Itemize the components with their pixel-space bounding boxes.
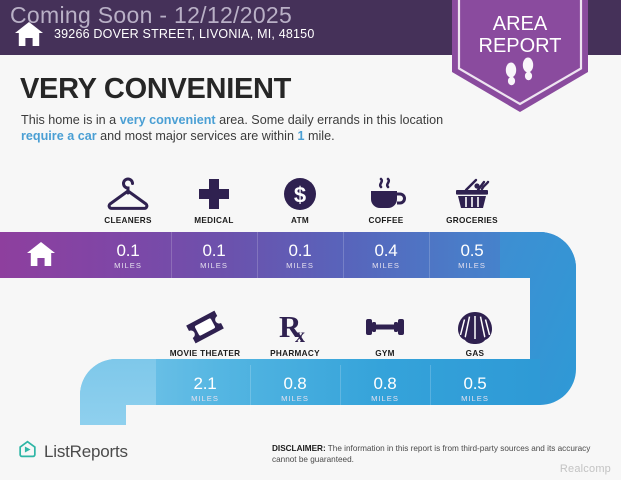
amenity-label: GROCERIES (446, 216, 498, 225)
badge-line2: REPORT (479, 35, 562, 57)
dumbbell-icon (365, 308, 405, 344)
amenity-label: GAS (466, 349, 485, 358)
distance-cell: 2.1 MILES (160, 365, 250, 411)
desc-text-2: area. Some daily errands in this locatio… (216, 113, 444, 127)
desc-highlight-3: 1 (297, 129, 304, 143)
header-address-block: 39266 DOVER STREET, LIVONIA, MI, 48150 (14, 20, 315, 48)
distance-cell: 0.5 MILES (429, 232, 515, 278)
disclaimer: DISCLAIMER: The information in this repo… (272, 444, 592, 465)
amenity-label: PHARMACY (270, 349, 320, 358)
distance-value: 0.5 (463, 374, 486, 393)
desc-highlight-1: very convenient (120, 113, 216, 127)
distance-unit: MILES (371, 394, 399, 403)
distance-cell: 0.4 MILES (343, 232, 429, 278)
description-paragraph: This home is in a very convenient area. … (21, 113, 453, 144)
distance-unit: MILES (200, 261, 228, 270)
distance-values-row-2: 2.1 MILES 0.8 MILES 0.8 MILES 0.5 MILES (160, 365, 520, 411)
distance-unit: MILES (458, 261, 486, 270)
distance-cell: 0.8 MILES (250, 365, 340, 411)
amenity-label: MOVIE THEATER (170, 349, 241, 358)
area-report-badge: AREA REPORT (452, 0, 588, 112)
home-icon (14, 20, 44, 48)
desc-text-1: This home is in a (21, 113, 120, 127)
desc-text-3: and most major services are within (97, 129, 298, 143)
amenity-gas: GAS (430, 298, 520, 358)
amenity-label: CLEANERS (104, 216, 151, 225)
basket-icon (452, 175, 492, 211)
distance-unit: MILES (461, 394, 489, 403)
disclaimer-label: DISCLAIMER: (272, 444, 326, 453)
distance-value: 0.8 (373, 374, 396, 393)
page-title: VERY CONVENIENT (20, 73, 291, 106)
amenity-label: COFFEE (368, 216, 403, 225)
amenity-groceries: GROCERIES (429, 165, 515, 225)
cross-icon (197, 175, 231, 211)
distance-value: 0.1 (288, 241, 311, 260)
distance-unit: MILES (281, 394, 309, 403)
distance-value: 2.1 (193, 374, 216, 393)
distance-value: 0.5 (460, 241, 483, 260)
distance-unit: MILES (191, 394, 219, 403)
distance-value: 0.1 (116, 241, 139, 260)
distance-cell: 0.1 MILES (85, 232, 171, 278)
distance-cell: 0.5 MILES (430, 365, 520, 411)
distance-value: 0.1 (202, 241, 225, 260)
distance-cell: 0.8 MILES (340, 365, 430, 411)
listreports-logo-text: ListReports (44, 442, 128, 462)
hanger-icon (106, 175, 150, 211)
svg-text:x: x (295, 325, 305, 344)
svg-text:$: $ (294, 183, 306, 208)
ticket-icon (185, 308, 225, 344)
realcomp-watermark: Realcomp (560, 463, 611, 475)
amenity-icon-row-1: CLEANERS MEDICAL $ ATM COFFEE (85, 165, 515, 225)
distance-value: 0.8 (283, 374, 306, 393)
amenity-label: ATM (291, 216, 309, 225)
amenity-coffee: COFFEE (343, 165, 429, 225)
shell-icon (457, 308, 493, 344)
distance-unit: MILES (372, 261, 400, 270)
dollar-icon: $ (283, 175, 317, 211)
listreports-logo: ListReports (18, 440, 128, 464)
amenity-atm: $ ATM (257, 165, 343, 225)
coffee-icon (366, 175, 406, 211)
rx-icon: R x (278, 308, 312, 344)
listreports-logo-icon (18, 440, 37, 464)
amenity-icon-row-2: MOVIE THEATER R x PHARMACY GYM (160, 298, 520, 358)
desc-text-4: mile. (305, 129, 335, 143)
desc-highlight-2: require a car (21, 129, 97, 143)
amenity-cleaners: CLEANERS (85, 165, 171, 225)
distance-values-row-1: 0.1 MILES 0.1 MILES 0.1 MILES 0.4 MILES … (85, 232, 515, 278)
distance-value: 0.4 (374, 241, 397, 260)
amenity-medical: MEDICAL (171, 165, 257, 225)
badge-line1: AREA (493, 13, 548, 35)
distance-cell: 0.1 MILES (257, 232, 343, 278)
amenity-pharmacy: R x PHARMACY (250, 298, 340, 358)
amenity-label: MEDICAL (194, 216, 233, 225)
distance-cell: 0.1 MILES (171, 232, 257, 278)
amenity-movie-theater: MOVIE THEATER (160, 298, 250, 358)
home-marker-icon (26, 240, 56, 268)
amenity-gym: GYM (340, 298, 430, 358)
property-address: 39266 DOVER STREET, LIVONIA, MI, 48150 (54, 27, 315, 41)
distance-unit: MILES (114, 261, 142, 270)
distance-unit: MILES (286, 261, 314, 270)
amenity-label: GYM (375, 349, 395, 358)
